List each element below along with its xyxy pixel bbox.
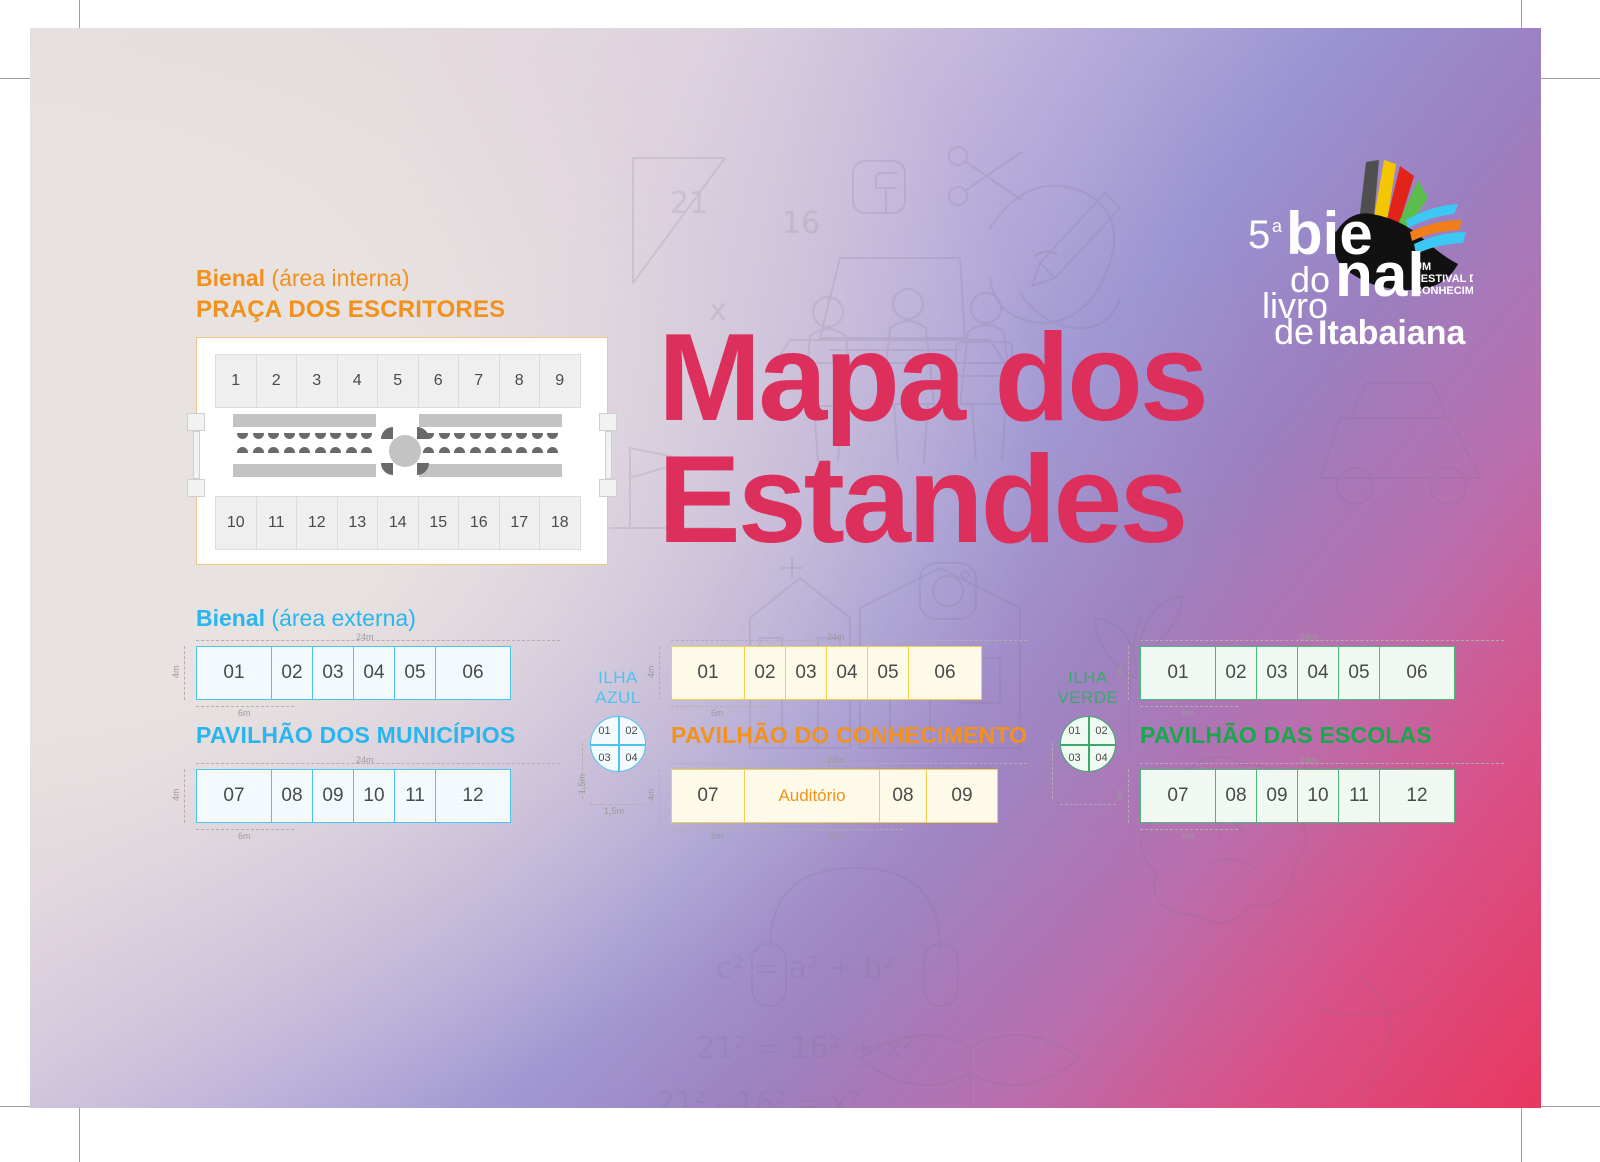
logo-nal: nal (1335, 241, 1425, 310)
stand-cell[interactable]: 04 (1297, 646, 1339, 700)
chair (299, 433, 310, 439)
table-top (233, 414, 376, 427)
poster-canvas: 21 16 x c² = a² + b² 21² = 16² + x² 21² … (30, 28, 1541, 1108)
dim-cell-c: 6m (711, 709, 724, 718)
ilha-azul: ILHA AZUL 01 02 03 04 1,5m 1,5m (586, 668, 650, 772)
chair (501, 433, 512, 439)
dim-cell-e: 6m (1182, 709, 1195, 718)
stand-cell[interactable]: 10 (353, 769, 395, 823)
interna-kicker-bold: Bienal (196, 265, 265, 291)
stand-cell[interactable]: 18 (539, 496, 581, 550)
stand-cell[interactable]: 16 (458, 496, 500, 550)
stand-cell[interactable]: 09 (926, 769, 998, 823)
dimline-left2 (184, 769, 185, 823)
ilha-verde-q2: 02 (1088, 717, 1115, 744)
ilha-verde-q1: 01 (1061, 717, 1088, 744)
dimline-cellbottom (196, 706, 294, 707)
chair (330, 433, 341, 439)
central-round-table-group (381, 427, 429, 475)
chair (485, 433, 496, 439)
praca-stand-row-bottom: 101112131415161718 (215, 496, 580, 550)
chair (284, 433, 295, 439)
chair (315, 447, 326, 453)
dimline-left-c (659, 646, 660, 700)
stand-cell[interactable]: 07 (196, 769, 272, 823)
stand-cell[interactable]: 04 (826, 646, 868, 700)
praca-stand-row-top: 123456789 (215, 354, 580, 408)
svg-text:21² = 16² + x²: 21² = 16² + x² (696, 1031, 915, 1066)
dim-cell-2-c: 6m (711, 832, 724, 841)
dimline-left-e (1128, 646, 1129, 700)
chair (330, 447, 341, 453)
escolas-title: PAVILHÃO DAS ESCOLAS (1140, 722, 1504, 749)
stand-cell[interactable]: 8 (499, 354, 541, 408)
ilha-azul-q3: 03 (591, 744, 618, 771)
stand-cell[interactable]: 4 (337, 354, 379, 408)
svg-text:21² - 16² = x²: 21² - 16² = x² (656, 1086, 860, 1108)
dimline-cellbottom2 (196, 829, 294, 830)
stand-cell[interactable]: 12 (1379, 769, 1455, 823)
door-cap-top (599, 413, 617, 431)
logo-itabaiana: Itabaiana (1318, 314, 1466, 345)
chair (268, 433, 279, 439)
ilha-azul-q1: 01 (591, 717, 618, 744)
escolas-bottom-strip: 070809101112 (1140, 769, 1504, 823)
logo-ordinal: 5 (1248, 213, 1270, 257)
chair (253, 433, 264, 439)
stand-cell[interactable]: 02 (744, 646, 786, 700)
chair (532, 433, 543, 439)
stand-cell[interactable]: 01 (196, 646, 272, 700)
stand-cell[interactable]: 10 (215, 496, 257, 550)
stand-cell[interactable]: 08 (1215, 769, 1257, 823)
stand-cell[interactable]: 9 (539, 354, 581, 408)
ilha-verde-divider-h (1061, 744, 1115, 746)
stand-cell[interactable]: 08 (879, 769, 927, 823)
ilha-verde-dimline-v (1052, 743, 1053, 799)
stand-cell[interactable]: 02 (271, 646, 313, 700)
chair (532, 447, 543, 453)
door-left (187, 413, 205, 497)
chair (547, 447, 558, 453)
pavilhao-escolas: 010203040506 24m 4m 6m PAVILHÃO DAS ESCO… (1140, 646, 1504, 823)
stand-cell[interactable]: 12 (435, 769, 511, 823)
ilha-azul-dim-h: 1,5m (578, 774, 587, 794)
praca-dos-escritores-section: Bienal (área interna) PRAÇA DOS ESCRITOR… (196, 266, 616, 565)
door-bar (193, 431, 200, 479)
ilha-verde-q4: 04 (1088, 744, 1115, 771)
svg-text:21: 21 (670, 186, 708, 221)
conhecimento-title: PAVILHÃO DO CONHECIMENTO (671, 722, 1027, 749)
stand-cell[interactable]: 17 (499, 496, 541, 550)
door-right (599, 413, 617, 497)
dim-height-e: 4m (1116, 665, 1125, 678)
externa-kicker-rest: (área externa) (265, 605, 416, 631)
table-top (419, 414, 562, 427)
dimline-top-c (671, 640, 1027, 641)
stand-cell[interactable]: 06 (1379, 646, 1455, 700)
stand-cell[interactable]: 05 (394, 646, 436, 700)
round-chair-bl (381, 463, 393, 475)
pavilhao-municipios: 010203040506 24m 4m 6m PAVILHÃO DOS MUNI… (196, 646, 560, 823)
dimline-cellbottom2-c (671, 829, 767, 830)
table-bottom (233, 464, 376, 477)
stand-cell[interactable]: 7 (458, 354, 500, 408)
dimline-top (196, 640, 560, 641)
dimline-top-e (1140, 640, 1504, 641)
dimline-left (184, 646, 185, 700)
page-title: Mapa dos Estandes (658, 318, 1206, 561)
ilha-verde-label-2: VERDE (1056, 688, 1120, 708)
dim-height-c: 4m (647, 665, 656, 678)
conhecimento-bottom-strip: 07Auditório0809 (671, 769, 1027, 823)
chair (299, 447, 310, 453)
stand-cell[interactable]: 05 (1338, 646, 1380, 700)
ilha-verde-label-1: ILHA (1056, 668, 1120, 688)
round-chair-br (417, 463, 429, 475)
table-bottom (419, 464, 562, 477)
dim-height-2-e: 4m (1116, 788, 1125, 801)
bienal-logo: 5 a bie do nal livro de Itabaiana UM FES… (1238, 120, 1473, 345)
chair (470, 433, 481, 439)
dim-height-2-c: 4m (647, 788, 656, 801)
ilha-azul-q4: 04 (618, 744, 645, 771)
logo-ordinal-sup: a (1272, 216, 1283, 236)
stand-cell[interactable]: 09 (1256, 769, 1298, 823)
round-chair-tr (417, 427, 429, 439)
dim-cell: 6m (238, 709, 251, 718)
stand-cell[interactable]: 12 (296, 496, 338, 550)
dim-cell-2: 6m (238, 832, 251, 841)
dimline-top2-c (671, 763, 1027, 764)
chair (439, 447, 450, 453)
stand-cell[interactable]: 04 (353, 646, 395, 700)
dim-height: 4m (172, 665, 181, 678)
poster-page: 21 16 x c² = a² + b² 21² = 16² + x² 21² … (0, 0, 1600, 1162)
chair (501, 447, 512, 453)
round-chair-tl (381, 427, 393, 439)
stand-cell[interactable]: 02 (1215, 646, 1257, 700)
stand-cell[interactable]: 01 (671, 646, 745, 700)
stand-cell[interactable]: 08 (271, 769, 313, 823)
dim-height-2: 4m (172, 788, 181, 801)
stand-cell[interactable]: 06 (435, 646, 511, 700)
logo-tagline-2: FESTIVAL DE (1414, 273, 1473, 285)
stand-cell[interactable]: 01 (1140, 646, 1216, 700)
seating-cluster-left (233, 414, 376, 486)
ilha-verde-plan: 01 02 03 04 (1060, 716, 1116, 772)
chair (454, 447, 465, 453)
ilha-verde-q3: 03 (1061, 744, 1088, 771)
chair (315, 433, 326, 439)
stand-cell[interactable]: 11 (1338, 769, 1380, 823)
ilha-azul-q2: 02 (618, 717, 645, 744)
chair (237, 433, 248, 439)
chair (346, 447, 357, 453)
stand-cell[interactable]: 5 (377, 354, 419, 408)
door-cap-top (187, 413, 205, 431)
interna-title: PRAÇA DOS ESCRITORES (196, 296, 616, 324)
stand-cell[interactable]: 09 (312, 769, 354, 823)
logo-tagline-1: UM (1414, 261, 1431, 273)
chair (361, 447, 372, 453)
logo-tagline-3: CONHECIMENTO (1414, 285, 1473, 297)
auditorio-cell[interactable]: Auditório (744, 769, 880, 823)
chair (346, 433, 357, 439)
pavilhao-conhecimento: 010203040506 24m 4m 6m PAVILHÃO DO CONHE… (671, 646, 1027, 823)
stand-cell[interactable]: 07 (1140, 769, 1216, 823)
stand-cell[interactable]: 06 (908, 646, 982, 700)
dimline-top2 (196, 763, 560, 764)
dim-cell-2-e: 6m (1182, 832, 1195, 841)
interna-kicker-rest: (área interna) (265, 265, 409, 291)
stand-cell[interactable]: 15 (418, 496, 460, 550)
stand-cell[interactable]: 03 (785, 646, 827, 700)
stand-cell[interactable]: 3 (296, 354, 338, 408)
chair (547, 433, 558, 439)
door-bar (605, 431, 612, 479)
stand-cell[interactable]: 07 (671, 769, 745, 823)
svg-text:16: 16 (782, 206, 820, 241)
dim-cell2-c: 9m (829, 832, 842, 841)
chair (237, 447, 248, 453)
stand-cell[interactable]: 11 (394, 769, 436, 823)
dimline-top2-e (1140, 763, 1504, 764)
dimline-left2-c (659, 769, 660, 823)
ilha-verde: ILHA VERDE 01 02 03 04 (1056, 668, 1120, 772)
stand-cell[interactable]: 1 (215, 354, 257, 408)
chair (485, 447, 496, 453)
chair (439, 433, 450, 439)
interna-kicker: Bienal (área interna) (196, 266, 616, 291)
chair (470, 447, 481, 453)
chair (454, 433, 465, 439)
stand-cell[interactable]: 13 (337, 496, 379, 550)
escolas-top-strip: 010203040506 (1140, 646, 1504, 700)
ilha-azul-label-2: AZUL (586, 688, 650, 708)
chair (361, 433, 372, 439)
stand-cell[interactable]: 05 (867, 646, 909, 700)
stand-cell[interactable]: 03 (1256, 646, 1298, 700)
dimline-cellbottom2-e (1140, 829, 1238, 830)
municipios-top-strip: 010203040506 (196, 646, 560, 700)
conhecimento-top-strip: 010203040506 (671, 646, 1027, 700)
stand-cell[interactable]: 14 (377, 496, 419, 550)
logo-de: de (1274, 311, 1314, 345)
stand-cell[interactable]: 10 (1297, 769, 1339, 823)
municipios-bottom-strip: 070809101112 (196, 769, 560, 823)
chair (284, 447, 295, 453)
stand-cell[interactable]: 03 (312, 646, 354, 700)
dimline-cellbottom3-c (767, 829, 903, 830)
ilha-azul-dim-w: 1,5m (604, 807, 624, 816)
dimline-cellbottom-e (1140, 706, 1238, 707)
stand-cell[interactable]: 11 (256, 496, 298, 550)
ilha-azul-plan: 01 02 03 04 (590, 716, 646, 772)
stand-cell[interactable]: 6 (418, 354, 460, 408)
municipios-title: PAVILHÃO DOS MUNICÍPIOS (196, 722, 560, 749)
door-cap-bottom (599, 479, 617, 497)
externa-kicker: Bienal (área externa) (196, 606, 416, 631)
svg-text:c² = a² + b²: c² = a² + b² (716, 951, 894, 986)
chair (516, 433, 527, 439)
ilha-verde-dimline-h (1060, 804, 1116, 805)
seating-cluster-right (419, 414, 562, 486)
ilha-azul-divider-h (591, 744, 645, 746)
door-cap-bottom (187, 479, 205, 497)
chair (516, 447, 527, 453)
externa-kicker-bold: Bienal (196, 605, 265, 631)
chair (253, 447, 264, 453)
praca-floorplan: 123456789 101112131415161718 (196, 337, 608, 565)
ilha-azul-dimline-h (590, 804, 646, 805)
ilha-azul-label-1: ILHA (586, 668, 650, 688)
stand-cell[interactable]: 2 (256, 354, 298, 408)
chair (268, 447, 279, 453)
dimline-cellbottom-c (671, 706, 767, 707)
dimline-left2-e (1128, 769, 1129, 823)
